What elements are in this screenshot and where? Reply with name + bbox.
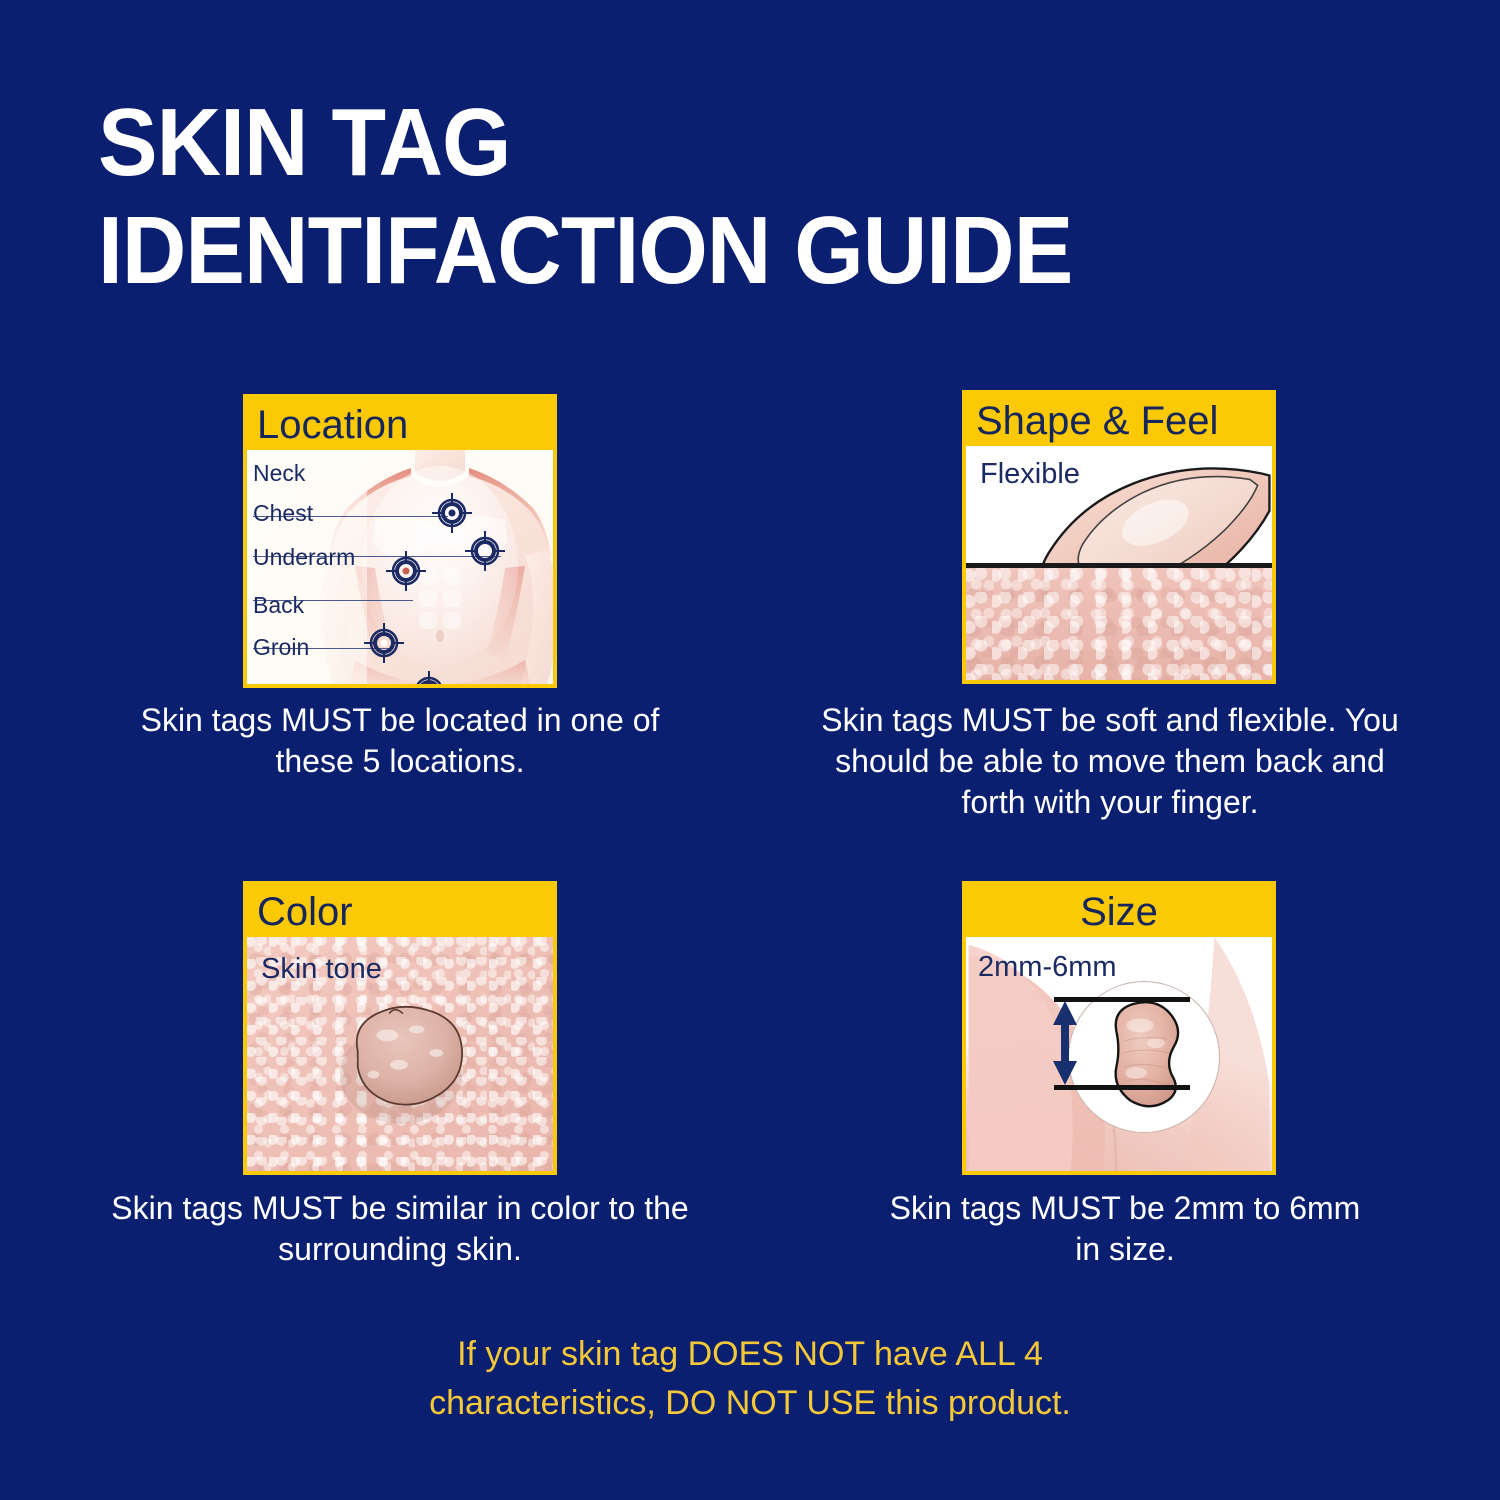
crosshair-target-icon — [363, 622, 405, 664]
footer-warning-line-1: If your skin tag DOES NOT have ALL 4 — [250, 1330, 1250, 1379]
label-skin-tone: Skin tone — [261, 953, 382, 986]
panel-header-shape-and-feel: Shape & Feel — [966, 394, 1272, 446]
panel-title-shape-and-feel: Shape & Feel — [976, 401, 1218, 441]
panel-header-size: Size — [966, 885, 1272, 937]
caption-color: Skin tags MUST be similar in color to th… — [80, 1188, 720, 1270]
caption-location: Skin tags MUST be located in one of thes… — [110, 700, 690, 782]
location-label-chest: Chest — [253, 500, 313, 527]
card-color: Color — [243, 881, 557, 1175]
card-location: Location — [243, 394, 557, 688]
footer-warning-line-2: characteristics, DO NOT USE this product… — [250, 1379, 1250, 1428]
panel-shape-and-feel: Shape & Feel — [962, 390, 1276, 684]
panel-header-color: Color — [247, 885, 553, 937]
crosshair-target-icon — [464, 530, 506, 572]
footer-warning: If your skin tag DOES NOT have ALL 4 cha… — [250, 1330, 1250, 1429]
panel-size: Size — [962, 881, 1276, 1175]
panel-header-location: Location — [247, 398, 553, 450]
card-size: Size — [962, 881, 1276, 1175]
crosshair-target-icon — [408, 670, 450, 684]
location-label-back: Back — [253, 592, 304, 619]
location-label-neck: Neck — [253, 460, 305, 487]
location-row-groin: Groin — [253, 662, 553, 663]
caption-shape-and-feel: Skin tags MUST be soft and flexible. You… — [805, 700, 1415, 823]
location-row-underarm: Underarm — [253, 572, 553, 573]
magnified-view-circle — [1068, 981, 1220, 1133]
label-size-range: 2mm-6mm — [978, 951, 1117, 984]
location-row-neck: Neck — [253, 488, 553, 489]
double-headed-arrow-icon — [1046, 999, 1084, 1087]
panel-location: Location — [243, 394, 557, 688]
location-label-groin: Groin — [253, 634, 309, 661]
panel-body-shape-and-feel: Flexible — [966, 446, 1272, 680]
panel-body-location: Neck Chest — [247, 450, 553, 684]
card-shape-and-feel: Shape & Feel — [962, 390, 1276, 684]
panel-title-size: Size — [1080, 892, 1158, 932]
location-row-chest: Chest — [253, 528, 553, 529]
label-flexible: Flexible — [980, 458, 1080, 491]
location-row-back: Back — [253, 620, 553, 621]
caption-size: Skin tags MUST be 2mm to 6mm in size. — [885, 1188, 1365, 1270]
panel-color: Color — [243, 881, 557, 1175]
magnified-skin-tag-svg — [1069, 982, 1219, 1132]
panel-body-size: 2mm-6mm — [966, 937, 1272, 1171]
location-label-underarm: Underarm — [253, 544, 355, 571]
panel-body-color: Skin tone — [247, 937, 553, 1171]
panel-title-color: Color — [257, 892, 353, 932]
skin-texture-band — [966, 568, 1272, 680]
crosshair-target-icon — [385, 550, 427, 592]
panel-title-location: Location — [257, 405, 408, 445]
